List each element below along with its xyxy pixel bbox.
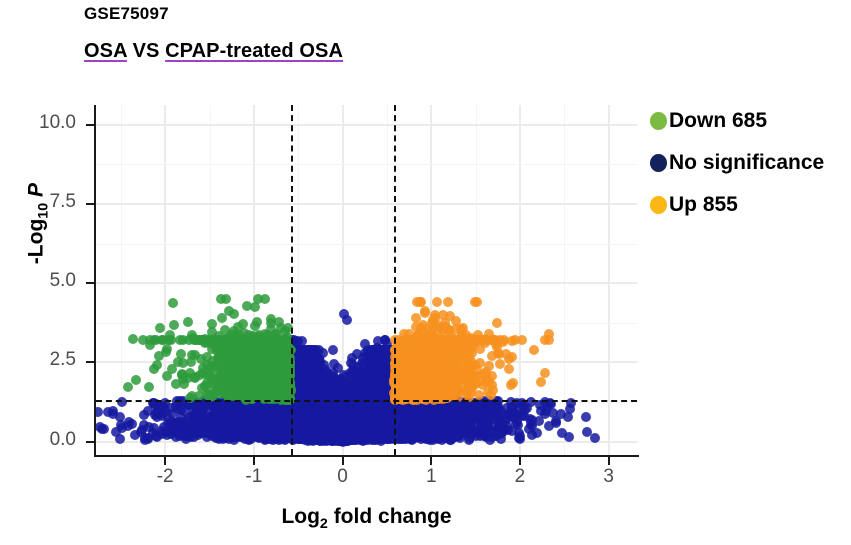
comparison-title: OSA VS CPAP-treated OSA bbox=[84, 40, 343, 63]
dataset-title: GSE75097 bbox=[84, 4, 169, 24]
gridline-y-major bbox=[96, 203, 637, 205]
volcano-plot-figure: GSE75097 OSA VS CPAP-treated OSA 0.02.55… bbox=[0, 0, 851, 545]
comparison-separator: VS bbox=[127, 40, 165, 62]
plot-panel bbox=[96, 105, 637, 455]
gridline-y-minor bbox=[96, 244, 637, 245]
gridline-y-major bbox=[96, 282, 637, 284]
gridline-y-minor bbox=[96, 164, 637, 165]
gridline-y-major bbox=[96, 124, 637, 126]
comparison-group-a: OSA bbox=[84, 40, 127, 62]
comparison-group-b: CPAP-treated OSA bbox=[165, 40, 343, 62]
